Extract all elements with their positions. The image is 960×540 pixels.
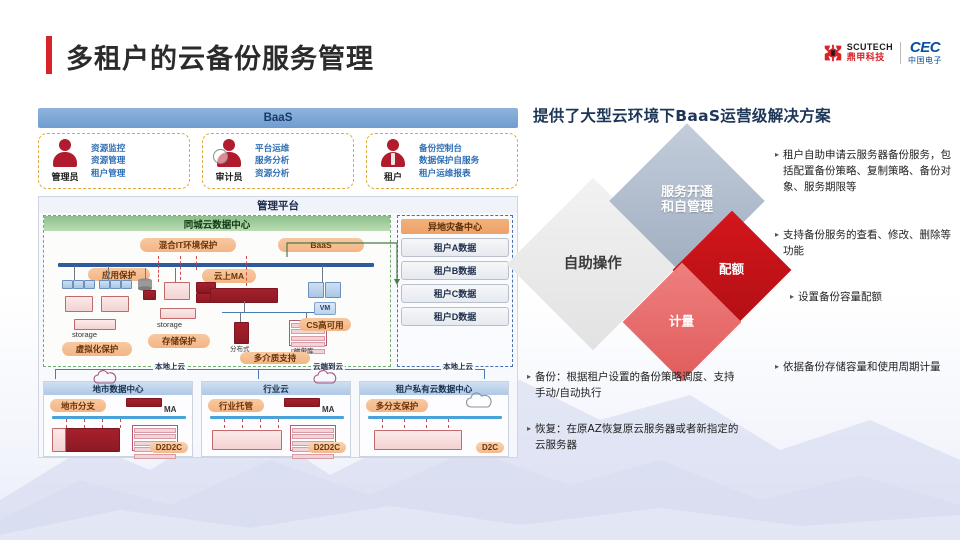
bullet-item-6: ▸ 恢复：在原AZ恢复原云服务器或者新指定的云服务器 — [527, 422, 742, 454]
role-figure: 审计员 — [209, 139, 249, 183]
pill-multi-media: 多介质支持 — [240, 352, 310, 364]
dr-center-panel: 异地灾备中心 租户A数据 租户B数据 租户C数据 租户D数据 — [397, 215, 513, 367]
role-feature: 备份控制台 — [419, 143, 479, 155]
tenant-data-box: 租户C数据 — [401, 284, 509, 303]
dr-center-title: 异地灾备中心 — [401, 219, 509, 234]
role-card-admin: 管理员 资源监控 资源管理 租户管理 — [38, 133, 190, 189]
bullet-text: 恢复：在原AZ恢复原云服务器或者新指定的云服务器 — [535, 422, 742, 454]
role-feature: 服务分析 — [255, 155, 289, 167]
scutech-mark-icon — [822, 42, 844, 64]
tenant-data-box: 租户A数据 — [401, 238, 509, 257]
bullet-text: 支持备份服务的查看、修改、删除等功能 — [783, 228, 955, 260]
role-feature: 租户管理 — [91, 168, 125, 180]
bullet-text: 设置备份容量配额 — [798, 290, 882, 306]
management-platform-body: 同城云数据中心 混合IT环境保护 BaaS 应用保护 云上MA — [39, 213, 517, 459]
role-name-admin: 管理员 — [51, 170, 78, 183]
right-heading: 提供了大型云环境下BaaS运营级解决方案 — [533, 104, 831, 126]
replication-arrow-icon — [285, 241, 403, 287]
host-node — [84, 280, 95, 289]
bullet-item-1: ▸ 租户自助申请云服务器备份服务，包括配置备份策略、复制策略、备份对象、服务期限… — [775, 148, 955, 195]
roles-row: 管理员 资源监控 资源管理 租户管理 审计员 平台运维 服务分析 — [38, 133, 518, 191]
tenant-data-box: 租户B数据 — [401, 261, 509, 280]
flow-label: 本地上云 — [441, 361, 475, 372]
admin-person-icon — [51, 139, 79, 169]
storage-label: storage — [72, 330, 97, 339]
pill-cs-ha: CS高可用 — [299, 318, 351, 331]
scutech-logo: SCUTECH 鼎甲科技 — [822, 42, 893, 64]
pill-cloud-ma: 云上MA — [202, 269, 256, 283]
slide-canvas: 多租户的云备份服务管理 SCUTECH 鼎甲科技 CEC 中国电子 BaaS — [0, 0, 960, 540]
bullet-marker-icon: ▸ — [775, 149, 779, 161]
diamond-label: 计量 — [669, 315, 694, 329]
vm-box: VM — [314, 302, 336, 315]
logo-group: SCUTECH 鼎甲科技 CEC 中国电子 — [822, 40, 942, 65]
scutech-en-label: SCUTECH — [847, 43, 893, 52]
role-features-auditor: 平台运维 服务分析 资源分析 — [255, 143, 289, 180]
site-tag: D2D2C — [308, 442, 346, 453]
page-title: 多租户的云备份服务管理 — [66, 37, 374, 76]
sites-band: 本地上云 云端到云 本地上云 地市数据中心 地市分支 MA — [43, 369, 513, 457]
management-platform-title: 管理平台 — [39, 197, 517, 213]
site-panel-industry-cloud: 行业云 行业托管 MA D2D2C — [201, 381, 351, 457]
diamond-label-line1: 服务开通 — [661, 186, 713, 201]
role-card-auditor: 审计员 平台运维 服务分析 资源分析 — [202, 133, 354, 189]
diamond-label: 自助操作 — [564, 256, 622, 273]
scutech-text: SCUTECH 鼎甲科技 — [847, 43, 893, 62]
site-tag: D2C — [476, 442, 504, 453]
host-node — [99, 280, 110, 289]
role-card-tenant: 租户 备份控制台 数据保护自服务 租户运维报表 — [366, 133, 518, 189]
host-node — [62, 280, 73, 289]
site-ma-label: MA — [164, 405, 176, 414]
pill-virtualization: 虚拟化保护 — [62, 342, 132, 356]
tenant-person-icon — [379, 139, 407, 169]
bullet-text: 租户自助申请云服务器备份服务，包括配置备份策略、复制策略、备份对象、服务期限等 — [783, 148, 955, 195]
tenant-data-box: 租户D数据 — [401, 307, 509, 326]
cloud-icon — [464, 392, 494, 410]
bullet-marker-icon: ▸ — [527, 371, 531, 383]
server-box — [65, 296, 93, 312]
scutech-cn-label: 鼎甲科技 — [847, 53, 893, 62]
cec-logo: CEC 中国电子 — [908, 40, 942, 65]
datacenter-title: 同城云数据中心 — [44, 216, 390, 231]
distributed-storage-node — [234, 322, 249, 344]
site-ma-node — [284, 398, 320, 407]
site-ma-label: MA — [322, 405, 334, 414]
role-name-auditor: 审计员 — [215, 170, 242, 183]
bullet-marker-icon: ▸ — [790, 291, 794, 303]
bullet-text: 备份：根据租户设置的备份策略调度、支持手动/自动执行 — [535, 370, 742, 402]
role-feature: 资源分析 — [255, 168, 289, 180]
agent-node — [143, 290, 156, 300]
site-server — [52, 428, 66, 452]
role-feature: 资源管理 — [91, 155, 125, 167]
cec-cn-label: 中国电子 — [908, 57, 942, 65]
site-pill: 多分支保护 — [366, 399, 428, 412]
cec-en-label: CEC — [908, 40, 942, 55]
role-figure: 管理员 — [45, 139, 85, 183]
site-ma-node — [126, 398, 162, 407]
management-platform-panel: 管理平台 同城云数据中心 混合IT环境保护 BaaS 应用保护 云上MA — [38, 196, 518, 458]
host-node — [121, 280, 132, 289]
role-features-admin: 资源监控 资源管理 租户管理 — [91, 143, 125, 180]
site-servers — [212, 430, 282, 450]
datacenter-panel: 同城云数据中心 混合IT环境保护 BaaS 应用保护 云上MA — [43, 215, 391, 367]
server-box — [164, 282, 190, 300]
diamond-label-line2: 和自管理 — [661, 201, 713, 216]
pill-hybrid-it: 混合IT环境保护 — [140, 238, 236, 252]
bullet-item-3: ▸ 设置备份容量配额 — [790, 290, 955, 306]
site-panel-city-dc: 地市数据中心 地市分支 MA D2D2 — [43, 381, 193, 457]
site-pill: 地市分支 — [50, 399, 106, 412]
server-box — [101, 296, 129, 312]
storage-label: storage — [157, 320, 182, 329]
bullet-marker-icon: ▸ — [527, 423, 531, 435]
host-node — [110, 280, 121, 289]
site-panel-private-cloud: 租户私有云数据中心 多分支保护 D2C — [359, 381, 509, 457]
site-servers — [374, 430, 462, 450]
storage-box — [160, 308, 196, 319]
title-accent-bar — [46, 36, 52, 74]
baas-banner: BaaS — [38, 108, 518, 128]
diamond-label: 配额 — [719, 263, 744, 277]
bullet-item-4: ▸ 依据备份存储容量和使用周期计量 — [775, 360, 950, 376]
slide-header: 多租户的云备份服务管理 SCUTECH 鼎甲科技 CEC 中国电子 — [0, 0, 960, 96]
host-node — [73, 280, 84, 289]
logo-divider — [900, 42, 901, 64]
site-pill: 行业托管 — [208, 399, 264, 412]
bullet-marker-icon: ▸ — [775, 229, 779, 241]
cloud-icon — [92, 370, 118, 386]
role-features-tenant: 备份控制台 数据保护自服务 租户运维报表 — [419, 143, 479, 180]
bullet-text: 依据备份存储容量和使用周期计量 — [783, 360, 941, 376]
bullet-item-5: ▸ 备份：根据租户设置的备份策略调度、支持手动/自动执行 — [527, 370, 742, 402]
auditor-person-icon — [215, 139, 243, 169]
role-feature: 数据保护自服务 — [419, 155, 479, 167]
site-tag: D2D2C — [150, 442, 188, 453]
role-feature: 平台运维 — [255, 143, 289, 155]
role-feature: 租户运维报表 — [419, 168, 479, 180]
role-figure: 租户 — [373, 139, 413, 183]
architecture-diagram: BaaS 管理员 资源监控 资源管理 租户管理 — [38, 108, 518, 458]
role-feature: 资源监控 — [91, 143, 125, 155]
cloud-icon — [312, 370, 338, 386]
pill-storage-protection: 存储保护 — [148, 334, 210, 348]
bullet-item-2: ▸ 支持备份服务的查看、修改、删除等功能 — [775, 228, 955, 260]
site-title: 地市数据中心 — [44, 382, 192, 395]
diamond-label: 服务开通 和自管理 — [661, 186, 713, 216]
role-name-tenant: 租户 — [384, 170, 402, 183]
site-servers — [62, 428, 120, 452]
flow-label: 本地上云 — [153, 361, 187, 372]
bullet-marker-icon: ▸ — [775, 361, 779, 373]
storage-box — [74, 319, 116, 330]
